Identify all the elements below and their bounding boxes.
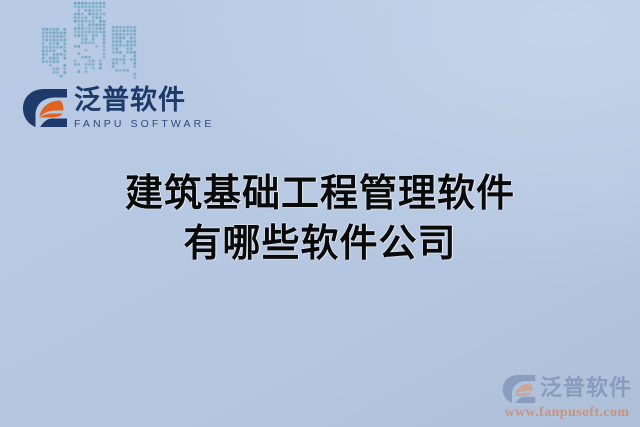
- page-title: 建筑基础工程管理软件 有哪些软件公司: [0, 168, 640, 268]
- brand-name-cn: 泛普软件: [74, 87, 214, 115]
- watermark: 泛普软件 www.fanpusoft.com: [502, 374, 632, 421]
- fanpu-logo-mark-watermark-icon: [502, 374, 536, 404]
- skyline-canvas: [40, 0, 144, 84]
- pixel-city-skyline: [40, 0, 144, 84]
- brand-name-en: FANPU SOFTWARE: [74, 118, 214, 130]
- poster-canvas: 泛普软件 FANPU SOFTWARE 建筑基础工程管理软件 有哪些软件公司 泛…: [0, 0, 640, 427]
- brand-logo: 泛普软件 FANPU SOFTWARE: [22, 87, 214, 130]
- brand-text: 泛普软件 FANPU SOFTWARE: [74, 87, 214, 130]
- watermark-name-cn: 泛普软件: [540, 377, 632, 401]
- page-title-line-2: 有哪些软件公司: [0, 218, 640, 268]
- watermark-url: www.fanpusoft.com: [504, 405, 629, 421]
- page-title-line-1: 建筑基础工程管理软件: [0, 168, 640, 218]
- watermark-logo-row: 泛普软件: [502, 374, 632, 404]
- fanpu-logo-mark-icon: [22, 88, 68, 128]
